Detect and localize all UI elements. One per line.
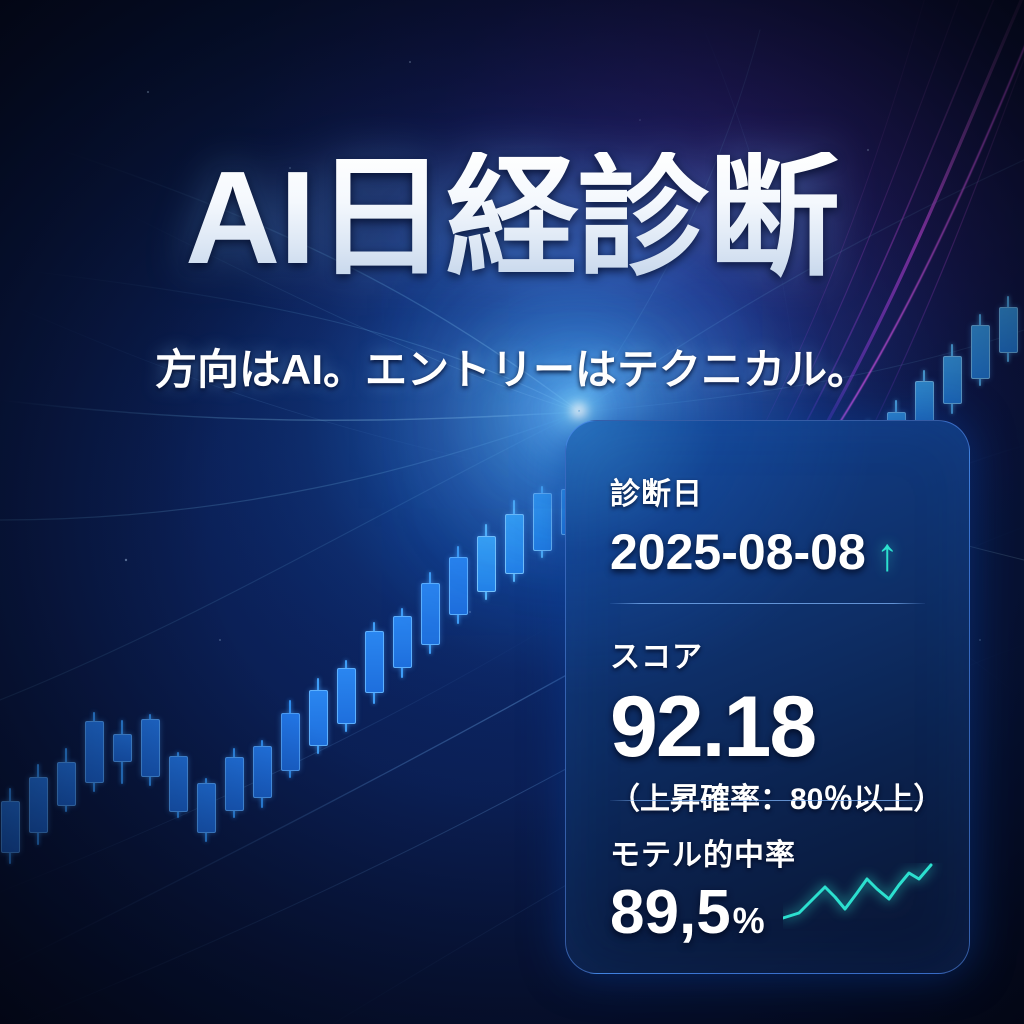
date-value-row: 2025-08-08 ↑ <box>610 527 925 577</box>
accuracy-value: 89,5 <box>610 882 731 944</box>
score-value: 92.18 <box>610 684 925 770</box>
sparkline-path <box>783 865 931 918</box>
score-label: スコア <box>610 632 925 676</box>
page-title: AI日経診断 <box>0 152 1024 284</box>
poster-canvas: AI日経診断 方向はAI。エントリーはテクニカル。 診断日 2025-08-08… <box>0 0 1024 1024</box>
date-section: 診断日 2025-08-08 ↑ <box>610 469 925 577</box>
uptrend-sparkline-icon <box>783 863 943 929</box>
date-value: 2025-08-08 <box>610 527 866 577</box>
score-section: スコア 92.18 （上昇確率：80％以上） <box>610 632 925 818</box>
trend-up-arrow-icon: ↑ <box>876 531 899 577</box>
score-note: （上昇確率：80％以上） <box>610 774 925 818</box>
date-label: 診断日 <box>610 469 925 513</box>
divider-bottom <box>610 800 925 801</box>
page-subtitle: 方向はAI。エントリーはテクニカル。 <box>0 336 1024 397</box>
diagnosis-card: 診断日 2025-08-08 ↑ スコア 92.18 （上昇確率：80％以上） … <box>565 420 970 974</box>
divider-top <box>610 603 925 604</box>
core-light-burst <box>578 410 580 412</box>
accuracy-unit: % <box>733 903 765 939</box>
